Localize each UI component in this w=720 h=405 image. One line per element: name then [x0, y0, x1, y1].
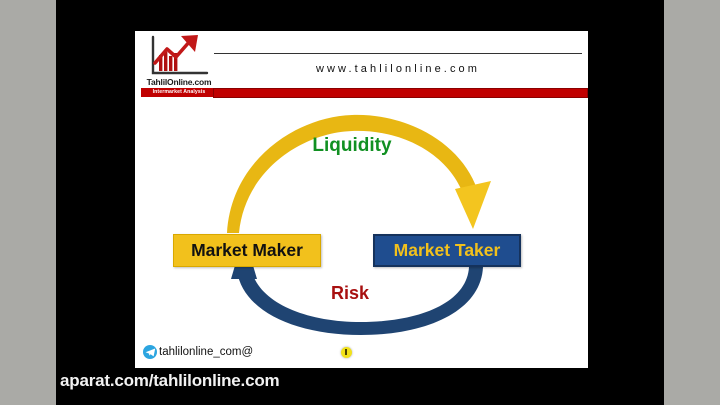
site-url-text: www.tahlilonline.com	[214, 63, 582, 75]
telegram-contact[interactable]: tahlilonline_com@	[143, 343, 253, 361]
liquidity-arrow	[227, 115, 491, 233]
node-market-maker[interactable]: Market Maker	[173, 234, 321, 267]
brand-logo-name: TahlilOnline.com	[139, 77, 219, 87]
video-player-screen: TahlilOnline.com Intermarket Analysis ww…	[0, 0, 720, 405]
telegram-icon	[143, 345, 157, 359]
letterbox-gutter-left	[0, 0, 56, 405]
node-market-taker[interactable]: Market Taker	[373, 234, 521, 267]
letterbox-gutter-right	[664, 0, 720, 405]
market-cycle-diagram: Market Maker Market Taker Liquidity Risk	[135, 103, 588, 338]
brand-logo-tagline: Intermarket Analysis	[141, 88, 217, 97]
telegram-handle-text: tahlilonline_com@	[159, 346, 253, 358]
cursor-dot	[341, 347, 352, 358]
edge-label-risk: Risk	[295, 283, 405, 304]
player-watermark: aparat.com/tahlilonline.com	[60, 371, 279, 391]
slide-canvas: TahlilOnline.com Intermarket Analysis ww…	[135, 31, 588, 368]
edge-label-liquidity: Liquidity	[277, 135, 427, 157]
header-divider-line	[214, 53, 582, 54]
header-red-bar	[213, 88, 588, 98]
slide-header: TahlilOnline.com Intermarket Analysis ww…	[135, 31, 588, 103]
brand-logo: TahlilOnline.com Intermarket Analysis	[139, 33, 219, 103]
growth-chart-icon	[145, 33, 215, 78]
